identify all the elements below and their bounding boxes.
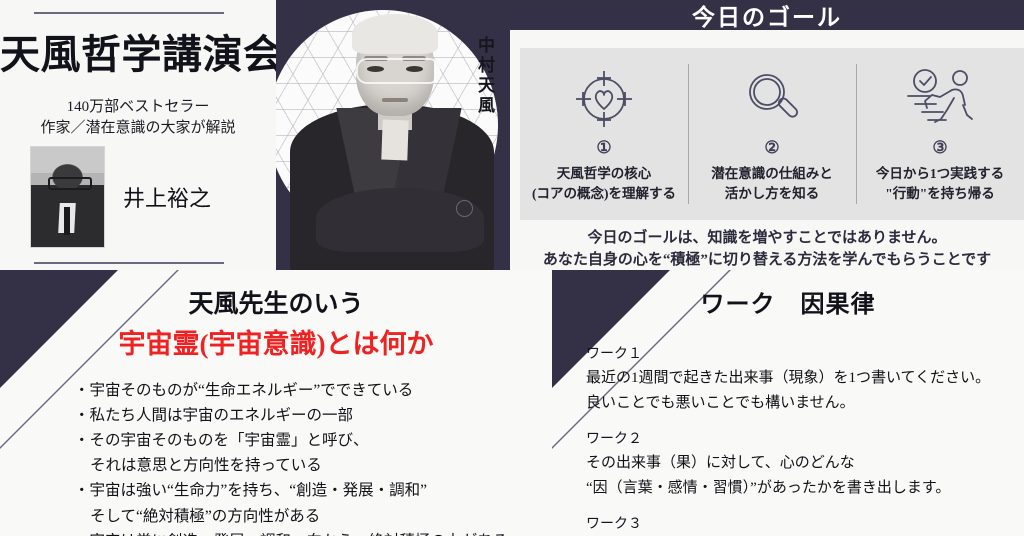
slide-canvas: 天風哲学講演会 140万部ベストセラー 作家／潜在意識の大家が解説 井上裕之 xyxy=(0,0,1024,536)
bullet-text: ・宇宙そのものが“生命エネルギー”でできている xyxy=(74,382,413,399)
goal-text-3-line-1: 今日から1つ実践する xyxy=(876,166,1004,181)
intro-subtitle-line-2: 作家／潜在意識の大家が解説 xyxy=(0,116,276,137)
bottom-divider-rule xyxy=(34,262,224,264)
speaker-name: 井上裕之 xyxy=(123,181,211,213)
goal-text-2-line-2: 活かし方を知る xyxy=(725,186,820,201)
portrait-inner-collar xyxy=(381,120,408,161)
list-item: ・その宇宙そのものを「宇宙霊」と呼び、 それは意思と方向性を持っている xyxy=(74,428,552,478)
goals-note: 今日のゴールは、知識を増やすことではありません。 あなた自身の心を“積極”に切り… xyxy=(510,228,1024,272)
goal-text-2-line-1: 潜在意識の仕組みと xyxy=(711,166,833,181)
goal-number-3: ③ xyxy=(932,138,947,158)
speaker-block: 井上裕之 xyxy=(30,146,211,248)
work-heading-3: ワーク３ xyxy=(586,514,1024,536)
running-check-icon xyxy=(902,62,978,136)
goal-number-1: ① xyxy=(596,138,611,158)
bullet-text: ・宇宙は常に創造・発展・調和へ向かう、絶対積極の力がある xyxy=(74,533,508,536)
list-item: ・宇宙は常に創造・発展・調和へ向かう、絶対積極の力がある xyxy=(74,529,552,536)
list-item: ・宇宙そのものが“生命エネルギー”でできている xyxy=(74,378,552,403)
goals-panel: 今日のゴール xyxy=(510,0,1024,270)
portrait-photo-nakamura-tempu xyxy=(294,12,490,270)
work-heading-2: ワーク２ xyxy=(586,429,1024,451)
page-title: 天風哲学講演会 xyxy=(0,22,276,80)
work-block-1: ワーク１ 最近の1週間で起きた出来事（現象）を1つ書いてください。 良いことでも… xyxy=(586,344,1024,415)
portrait-folded-arms xyxy=(316,188,484,252)
goal-item-2: ② 潜在意識の仕組みと 活かし方を知る xyxy=(688,48,856,220)
goal-text-1-line-1: 天風哲学の核心 xyxy=(557,166,652,181)
top-divider-rule xyxy=(34,12,224,14)
necktie-shape xyxy=(64,207,70,235)
navy-edge-strip xyxy=(502,0,510,270)
goal-text-2: 潜在意識の仕組みと 活かし方を知る xyxy=(711,164,833,203)
goal-item-3: ③ 今日から1つ実践する "行動"を持ち帰る xyxy=(856,48,1024,220)
bullet-continuation: それは意思と方向性を持っている xyxy=(74,453,552,478)
list-item: ・宇宙は強い“生命力”を持ち、“創造・発展・調和” そして“絶対積極”の方向性が… xyxy=(74,478,552,528)
work-line-1-a: 最近の1週間で起きた出来事（現象）を1つ書いてください。 xyxy=(586,366,1024,390)
work-line-2-b: “因（言葉・感情・習慣）”があったかを書き出します。 xyxy=(586,476,1024,500)
bullet-text: ・私たち人間は宇宙のエネルギーの一部 xyxy=(74,407,353,424)
portrait-mouth xyxy=(382,98,408,102)
intro-panel: 天風哲学講演会 140万部ベストセラー 作家／潜在意識の大家が解説 井上裕之 xyxy=(0,0,276,270)
portrait-family-crest xyxy=(456,200,473,217)
portrait-hair xyxy=(352,14,438,54)
goal-text-3: 今日から1つ実践する "行動"を持ち帰る xyxy=(876,164,1004,203)
bullet-text: ・その宇宙そのものを「宇宙霊」と呼び、 xyxy=(74,432,369,449)
goals-header-title: 今日のゴール xyxy=(692,0,842,32)
work-block-3: ワーク３ xyxy=(586,514,1024,536)
work-block-2: ワーク２ その出来事（果）に対して、心のどんな “因（言葉・感情・習慣）”があっ… xyxy=(586,429,1024,500)
work-title: ワーク 因果律 xyxy=(552,284,1024,319)
cosmic-title-line-2: 宇宙霊(宇宙意識)とは何か xyxy=(0,322,552,361)
goals-note-line-1: 今日のゴールは、知識を増やすことではありません。 xyxy=(510,228,1024,250)
work-line-2-a: その出来事（果）に対して、心のどんな xyxy=(586,451,1024,475)
goals-row: ① 天風哲学の核心 (コアの概念)を理解する ② 潜在意識の仕組みと xyxy=(520,48,1024,220)
goals-header-bar: 今日のゴール xyxy=(510,0,1024,30)
cosmic-bullet-list: ・宇宙そのものが“生命エネルギー”でできている ・私たち人間は宇宙のエネルギーの… xyxy=(34,378,552,536)
intro-subtitle-line-1: 140万部ベストセラー xyxy=(0,95,276,116)
cosmic-title: 天風先生のいう 宇宙霊(宇宙意識)とは何か xyxy=(0,284,552,361)
work-line-1-b: 良いことでも悪いことでも構いません。 xyxy=(586,391,1024,415)
speaker-avatar xyxy=(30,146,105,248)
glasses-icon xyxy=(48,177,92,190)
portrait-panel: 中村天風 xyxy=(276,0,510,270)
portrait-vertical-name: 中村天風 xyxy=(474,36,494,116)
portrait-glasses-icon xyxy=(356,58,440,84)
work-heading-1: ワーク１ xyxy=(586,344,1024,366)
list-item: ・私たち人間は宇宙のエネルギーの一部 xyxy=(74,403,552,428)
goal-text-1-line-2: (コアの概念)を理解する xyxy=(532,186,676,201)
cosmic-title-line-1: 天風先生のいう xyxy=(0,284,552,320)
cosmic-panel: 天風先生のいう 宇宙霊(宇宙意識)とは何か ・宇宙そのものが“生命エネルギー”で… xyxy=(0,270,552,536)
work-body: ワーク１ 最近の1週間で起きた出来事（現象）を1つ書いてください。 良いことでも… xyxy=(586,344,1024,536)
bullet-continuation: そして“絶対積極”の方向性がある xyxy=(74,504,552,529)
goal-text-1: 天風哲学の核心 (コアの概念)を理解する xyxy=(532,164,676,203)
target-heart-icon xyxy=(571,62,637,136)
goal-text-3-line-2: "行動"を持ち帰る xyxy=(885,186,995,201)
goals-note-line-2: あなた自身の心を“積極”に切り替える方法を学んでもらうことです xyxy=(510,250,1024,272)
goal-item-1: ① 天風哲学の核心 (コアの概念)を理解する xyxy=(520,48,688,220)
magnifier-icon xyxy=(739,62,805,136)
goal-number-2: ② xyxy=(764,138,779,158)
work-panel: ワーク 因果律 ワーク１ 最近の1週間で起きた出来事（現象）を1つ書いてください… xyxy=(552,270,1024,536)
bullet-text: ・宇宙は強い“生命力”を持ち、“創造・発展・調和” xyxy=(74,482,427,499)
